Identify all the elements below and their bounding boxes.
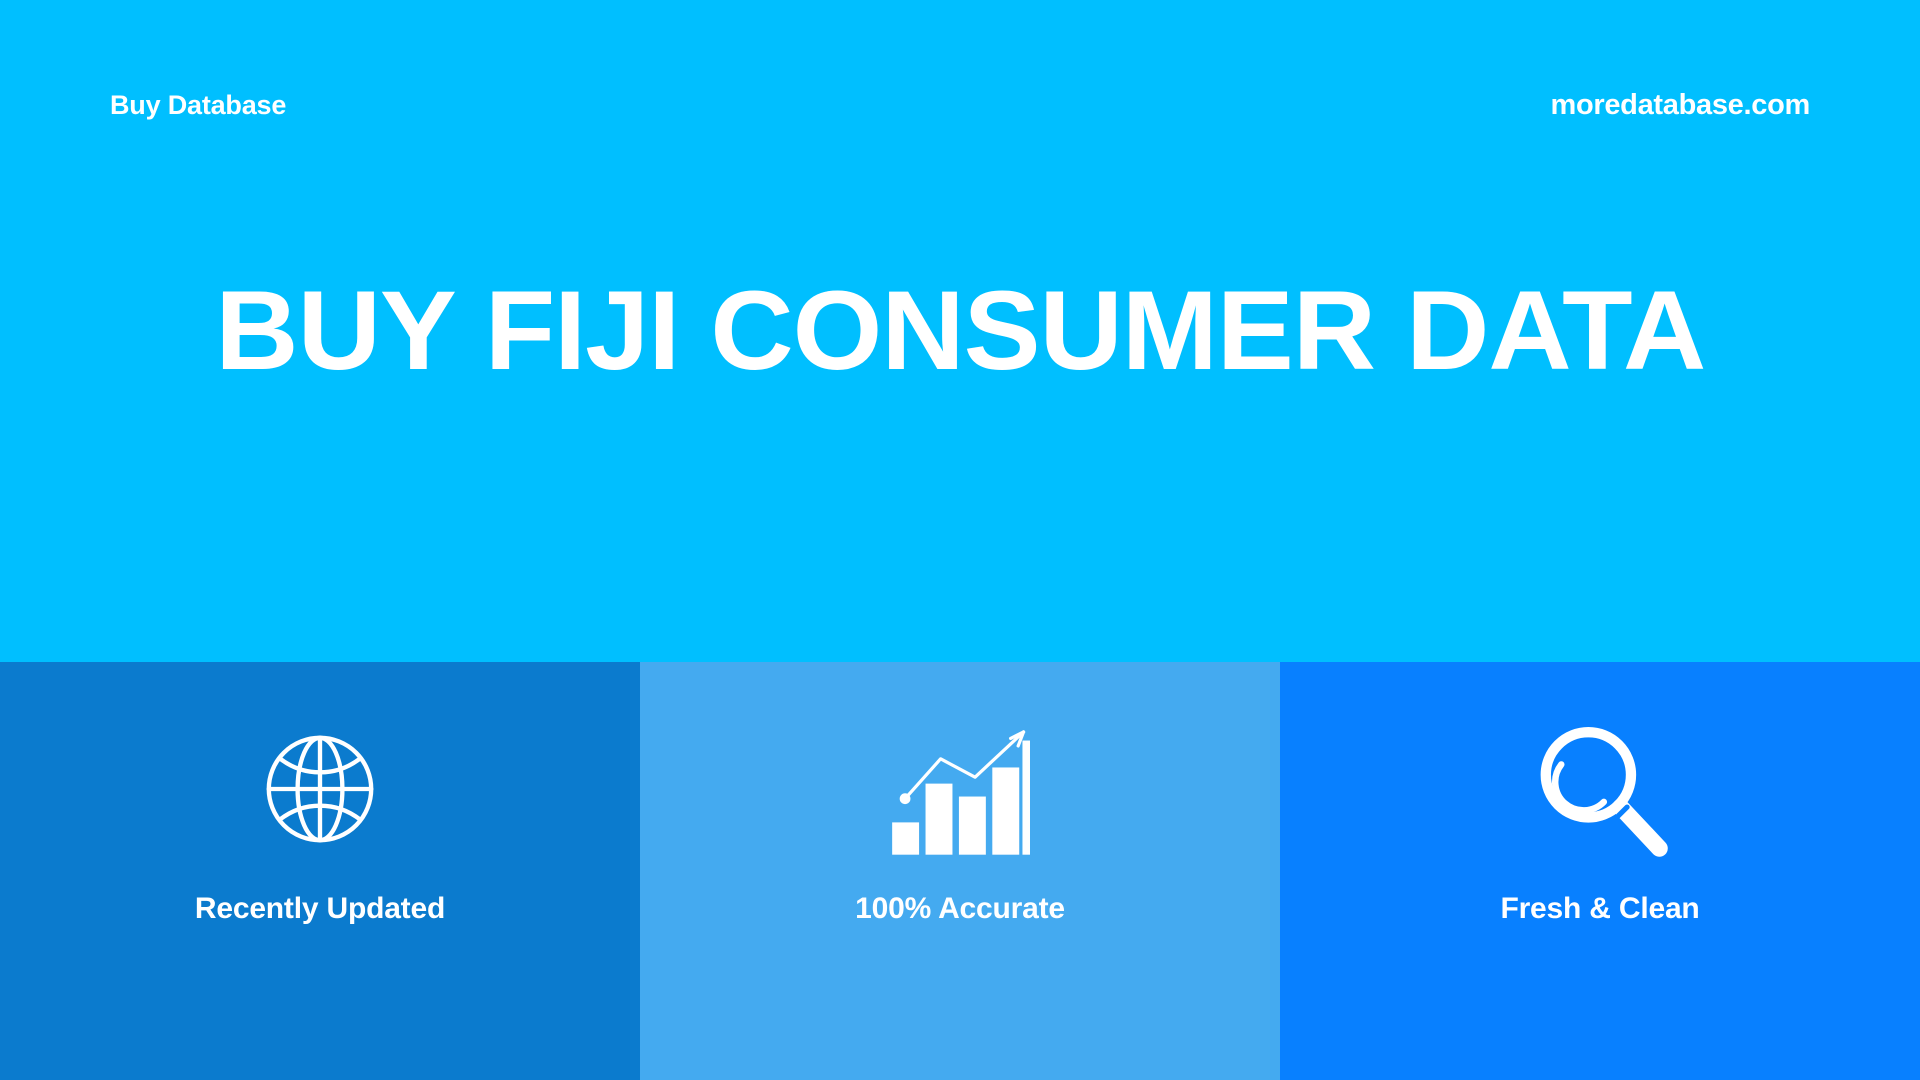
hero-title-container: BUY FIJI CONSUMER DATA bbox=[0, 0, 1920, 662]
magnifier-icon bbox=[1529, 714, 1671, 864]
feature-card-recently-updated[interactable]: Recently Updated bbox=[0, 662, 640, 1080]
feature-label-recently-updated: Recently Updated bbox=[195, 892, 445, 926]
feature-label-fresh-clean: Fresh & Clean bbox=[1500, 892, 1699, 926]
page-title: BUY FIJI CONSUMER DATA bbox=[215, 272, 1705, 390]
feature-label-accurate: 100% Accurate bbox=[855, 892, 1065, 926]
feature-card-accurate[interactable]: 100% Accurate bbox=[640, 662, 1280, 1080]
globe-icon bbox=[256, 714, 384, 864]
hero-section: Buy Database moredatabase.com BUY FIJI C… bbox=[0, 0, 1920, 662]
feature-card-fresh-clean[interactable]: Fresh & Clean bbox=[1280, 662, 1920, 1080]
growth-chart-icon bbox=[890, 714, 1030, 864]
promo-banner: Buy Database moredatabase.com BUY FIJI C… bbox=[0, 0, 1920, 1080]
feature-strip: Recently Updated bbox=[0, 662, 1920, 1080]
